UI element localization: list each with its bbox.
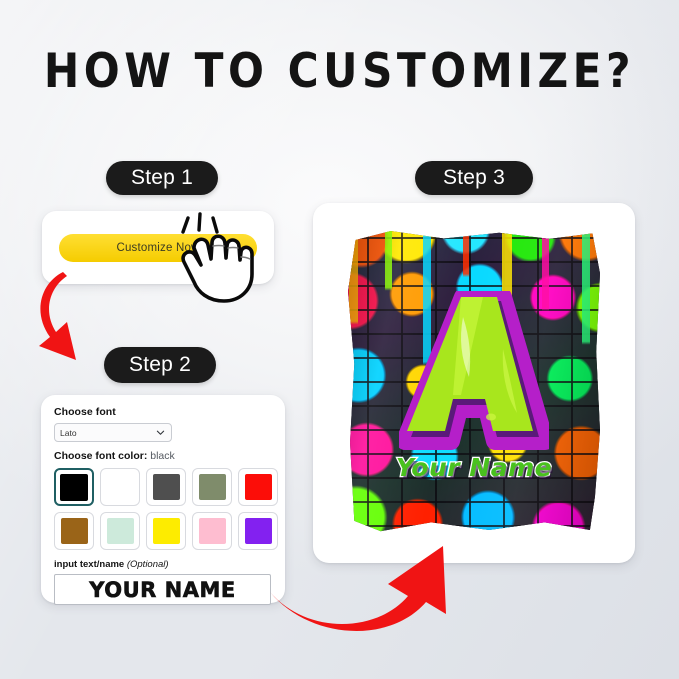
customize-now-button[interactable]: Customize Now [59,234,257,262]
swatch-white[interactable] [100,468,140,506]
input-text-name-label-text: input text/name [54,559,124,570]
step-1-card: Customize Now [42,211,274,284]
step-2-card: Choose font Lato Choose font color: blac… [41,395,285,603]
choose-font-label: Choose font [54,406,274,418]
graffiti-letter-a [399,291,549,466]
page-title: HOW TO CUSTOMIZE? [0,44,679,99]
choose-font-color-value: black [150,450,175,462]
input-text-name-label: input text/name (Optional) [54,559,274,570]
font-select-value: Lato [60,428,77,438]
step-1-badge: Step 1 [106,161,218,195]
swatch-pink[interactable] [192,512,232,550]
swatch-brown[interactable] [54,512,94,550]
blanket-personalized-name: Your Name [348,453,600,482]
blanket-graffiti-surface: Your Name [348,231,600,533]
name-input-value: YOUR NAME [89,578,235,602]
step-3-badge: Step 3 [415,161,533,195]
swatch-yellow[interactable] [146,512,186,550]
chevron-down-icon [156,428,165,437]
font-select[interactable]: Lato [54,423,172,442]
product-blanket-preview: Your Name [348,231,600,533]
name-input-field[interactable]: YOUR NAME [54,574,271,605]
font-color-swatch-grid [54,468,274,550]
step-3-card: Your Name [313,203,635,563]
step-2-badge: Step 2 [104,347,216,383]
swatch-dark-gray[interactable] [146,468,186,506]
swatch-red[interactable] [238,468,278,506]
input-optional-note: (Optional) [127,559,169,570]
choose-font-color-label: Choose font color: black [54,450,274,462]
infographic-canvas: HOW TO CUSTOMIZE? Step 1 Customize Now S… [0,0,679,679]
swatch-sage-green[interactable] [192,468,232,506]
swatch-black[interactable] [54,468,94,506]
swatch-purple[interactable] [238,512,278,550]
swatch-mint[interactable] [100,512,140,550]
choose-font-color-text: Choose font color: [54,450,147,462]
